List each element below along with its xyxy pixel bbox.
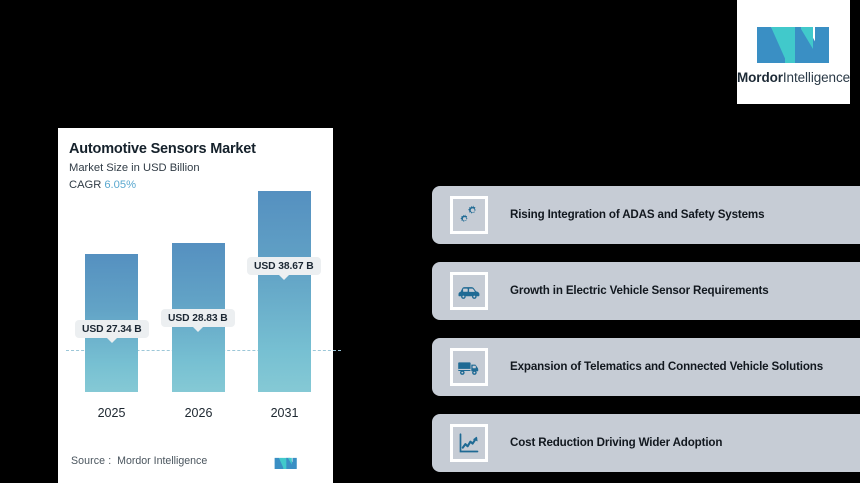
gears-icon <box>457 203 481 227</box>
mordor-m-mark-icon <box>755 19 833 65</box>
chart-footer: Source : Mordor Intelligence <box>58 453 333 475</box>
driver-row-telematics[interactable]: Expansion of Telematics and Connected Ve… <box>432 338 860 396</box>
source-label: Source : <box>71 455 111 467</box>
driver-row-ev[interactable]: Growth in Electric Vehicle Sensor Requir… <box>432 262 860 320</box>
x-tick-2025: 2025 <box>85 406 138 420</box>
driver-label: Growth in Electric Vehicle Sensor Requir… <box>510 284 769 298</box>
driver-label: Cost Reduction Driving Wider Adoption <box>510 436 722 450</box>
footer-logo-icon <box>274 455 298 470</box>
truck-icon <box>456 355 482 379</box>
bar-2031 <box>258 191 311 392</box>
data-label-2031: USD 38.67 B <box>247 257 321 275</box>
cagr-label: CAGR <box>69 179 101 191</box>
brand-name-bold: Mordor <box>737 70 783 85</box>
x-tick-2026: 2026 <box>172 406 225 420</box>
gears-icon-box <box>450 196 488 234</box>
data-label-2026: USD 28.83 B <box>161 309 235 327</box>
brand-name-light: Intelligence <box>783 70 850 85</box>
x-tick-2031: 2031 <box>258 406 311 420</box>
driver-label: Rising Integration of ADAS and Safety Sy… <box>510 208 764 222</box>
car-icon <box>456 279 482 303</box>
chart-subtitle: Market Size in USD Billion <box>69 162 333 175</box>
chart-card: Automotive Sensors Market Market Size in… <box>58 128 333 483</box>
driver-row-adas[interactable]: Rising Integration of ADAS and Safety Sy… <box>432 186 860 244</box>
brand-wordmark: MordorIntelligence <box>737 71 850 85</box>
driver-label: Expansion of Telematics and Connected Ve… <box>510 360 823 374</box>
data-label-2025: USD 27.34 B <box>75 320 149 338</box>
chart-up-icon <box>457 431 481 455</box>
source-text: Source : Mordor Intelligence <box>71 455 207 467</box>
truck-icon-box <box>450 348 488 386</box>
car-icon-box <box>450 272 488 310</box>
mordor-intelligence-logo: MordorIntelligence <box>737 0 850 104</box>
chart-header: Automotive Sensors Market Market Size in… <box>58 128 333 192</box>
chart-up-icon-box <box>450 424 488 462</box>
driver-row-cost-reduction[interactable]: Cost Reduction Driving Wider Adoption <box>432 414 860 472</box>
screenshot-root: MordorIntelligence Automotive Sensors Ma… <box>0 0 860 483</box>
cagr-value: 6.05% <box>104 179 136 191</box>
source-name: Mordor Intelligence <box>117 455 207 467</box>
chart-title: Automotive Sensors Market <box>69 140 333 158</box>
chart-plot-area: USD 27.34 B USD 28.83 B USD 38.67 B 2025… <box>58 190 333 438</box>
